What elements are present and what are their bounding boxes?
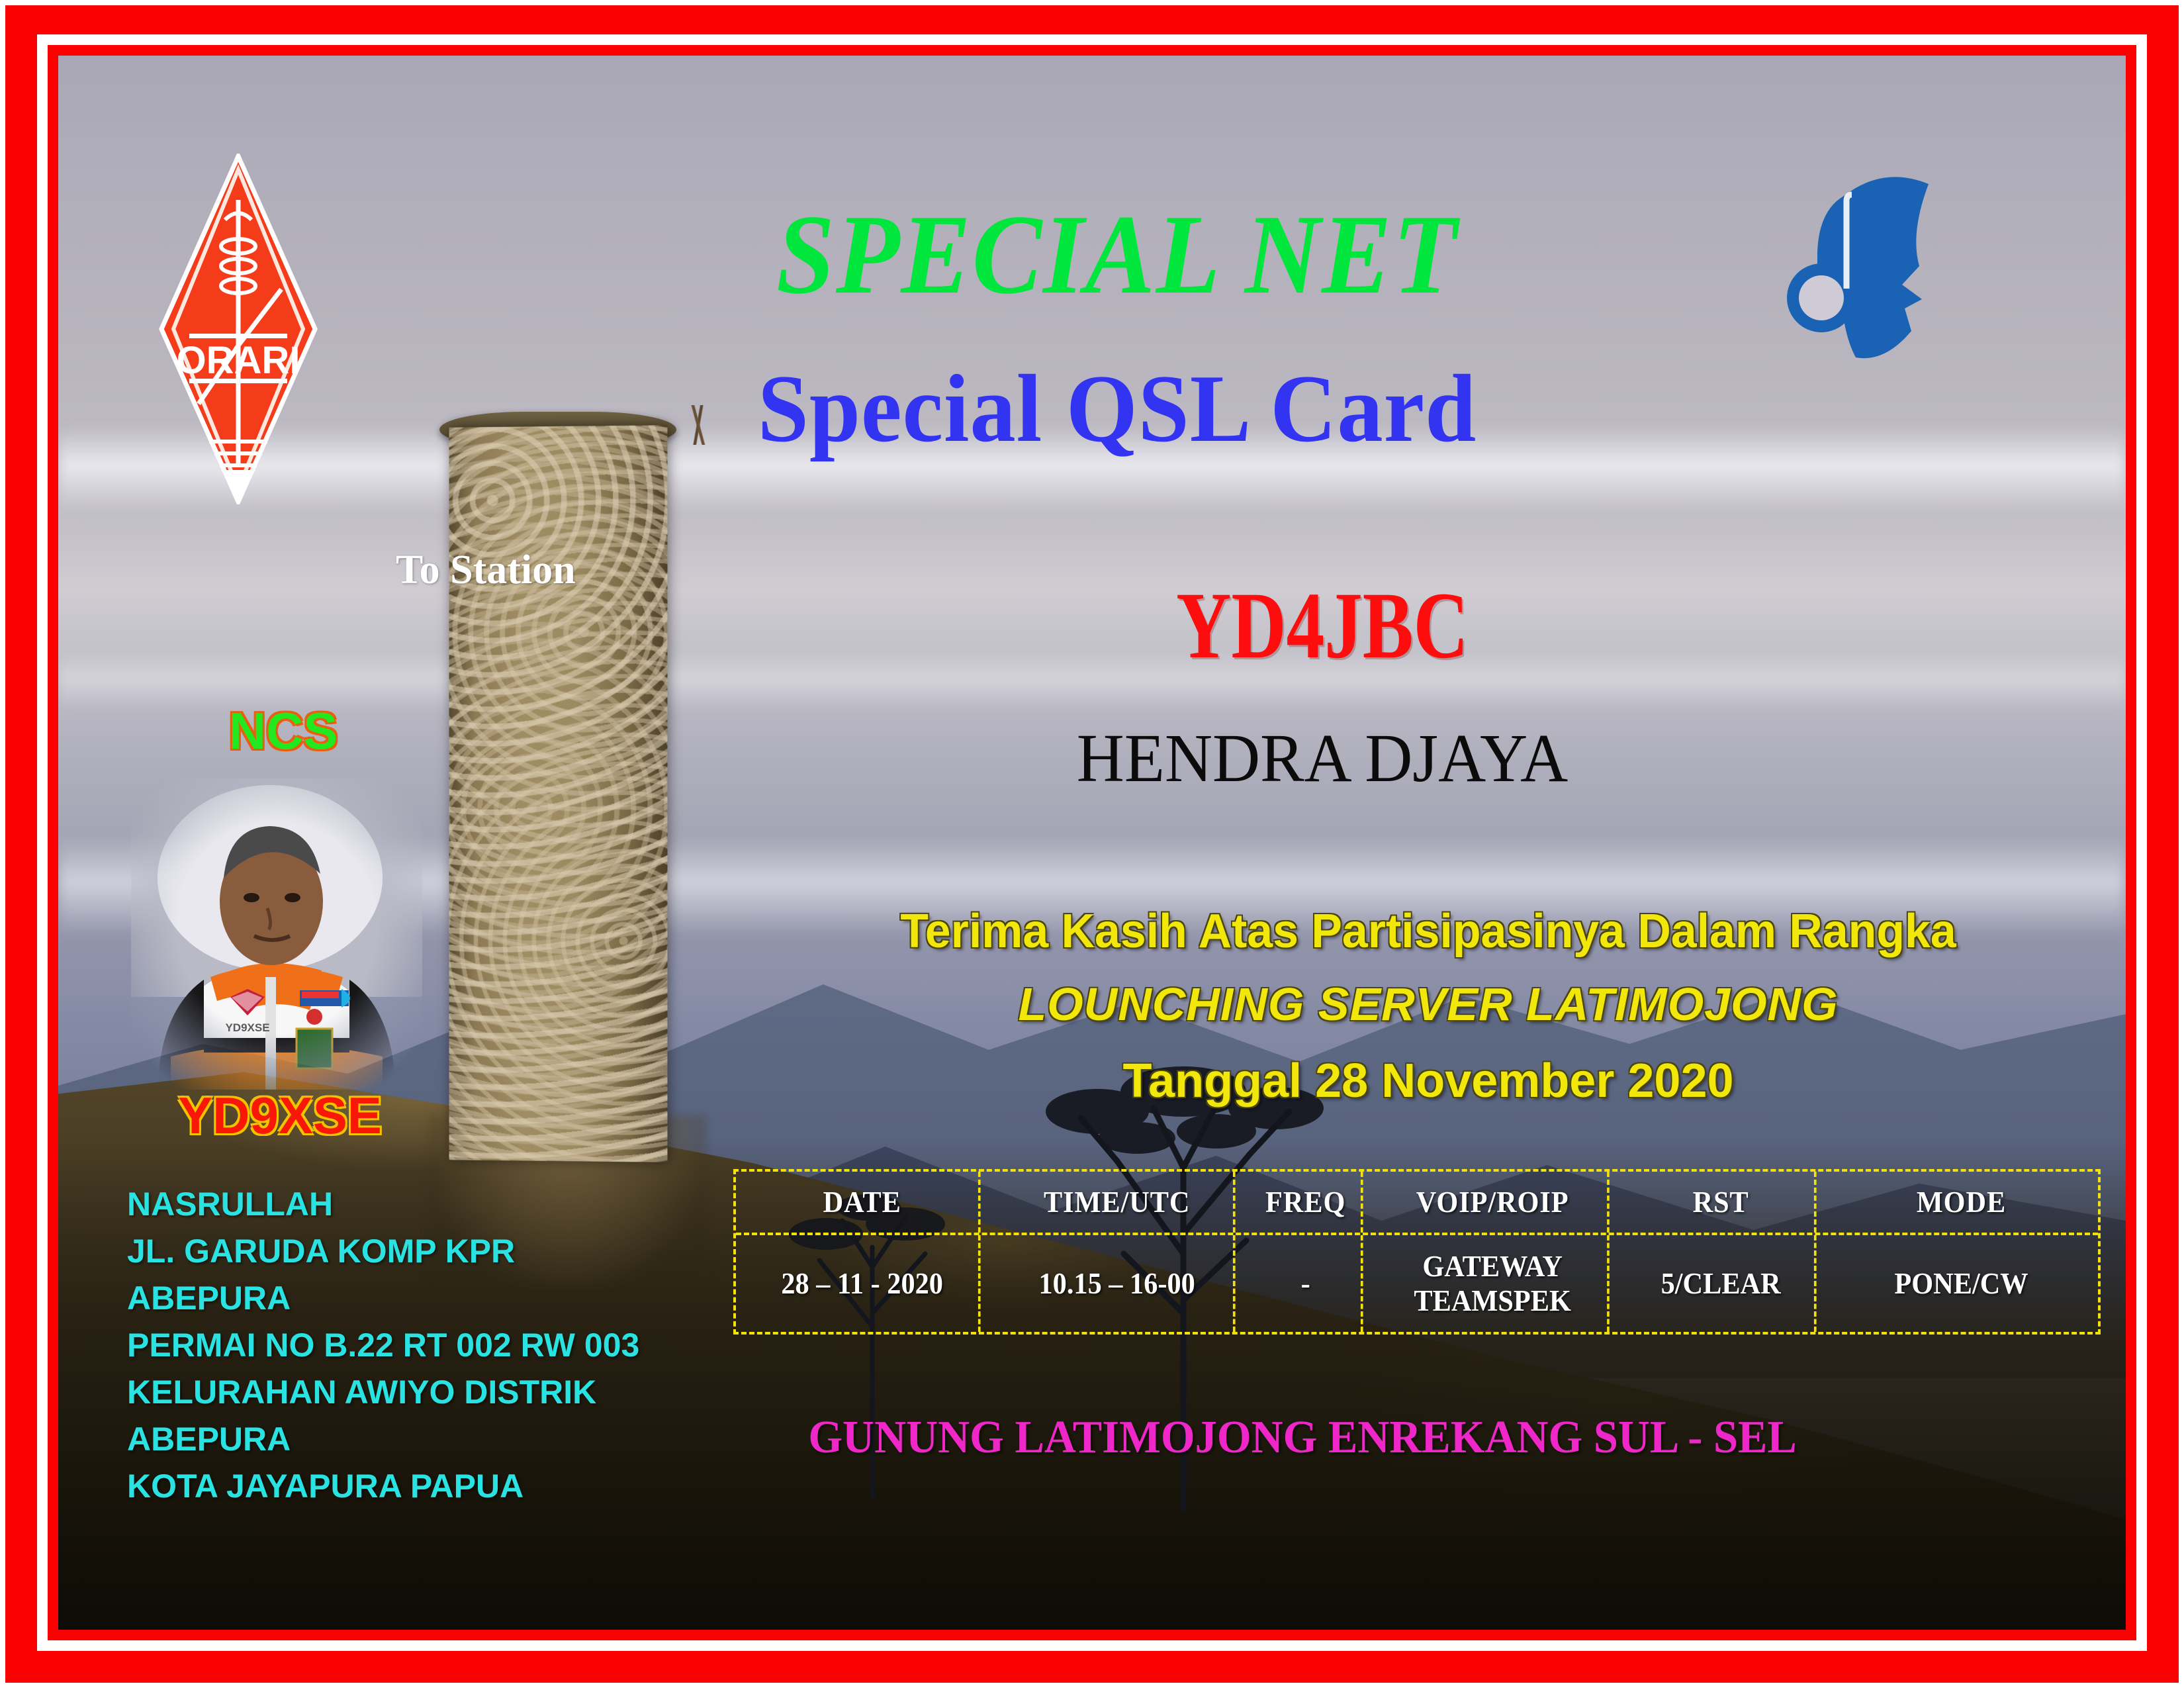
- column-header-freq: FREQ: [1250, 1172, 1363, 1233]
- address-line: ABEPURA: [127, 1275, 709, 1322]
- ncs-label: NCS: [138, 701, 429, 761]
- orari-logo-text: ORARI: [177, 339, 300, 382]
- qsl-card: ORARI SPECIAL NET Special: [0, 0, 2184, 1688]
- cell-voip-roip: GATEWAY TEAMSPEK: [1378, 1235, 1610, 1332]
- address-line: JL. GARUDA KOMP KPR: [127, 1228, 709, 1275]
- location-line: GUNUNG LATIMOJONG ENREKANG SUL - SEL: [737, 1411, 1868, 1464]
- address-block: NASRULLAH JL. GARUDA KOMP KPR ABEPURA PE…: [127, 1181, 709, 1510]
- column-header-date: DATE: [746, 1172, 980, 1233]
- address-line: ABEPURA: [127, 1416, 709, 1463]
- ncs-callsign: YD9XSE: [131, 1086, 429, 1146]
- thanks-line: Terima Kasih Atas Partisipasinya Dalam R…: [767, 904, 2089, 959]
- table-row: 28 – 11 - 2020 10.15 – 16-00 - GATEWAY T…: [736, 1233, 2098, 1332]
- event-date-line: Tanggal 28 November 2020: [747, 1054, 2110, 1108]
- column-header-mode: MODE: [1836, 1172, 2087, 1233]
- operator-name: HENDRA DJAYA: [903, 724, 1741, 793]
- headphones-face-radio-logo: [1783, 148, 2048, 413]
- station-callsign: YD4JBC: [973, 579, 1672, 674]
- address-line: PERMAI NO B.22 RT 002 RW 003: [127, 1322, 709, 1369]
- to-station-label: To Station: [396, 547, 576, 594]
- address-line: KELURAHAN AWIYO DISTRIK: [127, 1369, 709, 1416]
- cell-time: 10.15 – 16-00: [1001, 1235, 1235, 1332]
- table-header-row: DATE TIME/UTC FREQ VOIP/ROIP RST MODE: [736, 1172, 2098, 1233]
- column-header-time: TIME/UTC: [1001, 1172, 1235, 1233]
- address-line: KOTA JAYAPURA PAPUA: [127, 1463, 709, 1510]
- column-header-voip-roip: VOIP/ROIP: [1378, 1172, 1610, 1233]
- column-header-rst: RST: [1627, 1172, 1816, 1233]
- title-special-qsl-card: Special QSL Card: [526, 360, 1708, 457]
- background-photograph: ORARI SPECIAL NET Special: [58, 56, 2126, 1630]
- cell-rst: 5/CLEAR: [1627, 1235, 1816, 1332]
- svg-text:YD9XSE: YD9XSE: [225, 1021, 269, 1034]
- orari-diamond-logo: ORARI: [159, 154, 318, 504]
- cell-freq: -: [1250, 1235, 1363, 1332]
- event-line: LOUNCHING SERVER LATIMOJONG: [747, 978, 2110, 1031]
- title-special-net: SPECIAL NET: [545, 198, 1690, 312]
- cell-mode: PONE/CW: [1836, 1235, 2087, 1332]
- qso-log-table: DATE TIME/UTC FREQ VOIP/ROIP RST MODE 28…: [733, 1169, 2101, 1335]
- content-layer: ORARI SPECIAL NET Special: [58, 56, 2126, 1630]
- ncs-operator-photo: YD9XSE: [131, 778, 422, 1090]
- cell-date: 28 – 11 - 2020: [746, 1235, 980, 1332]
- address-line: NASRULLAH: [127, 1181, 709, 1228]
